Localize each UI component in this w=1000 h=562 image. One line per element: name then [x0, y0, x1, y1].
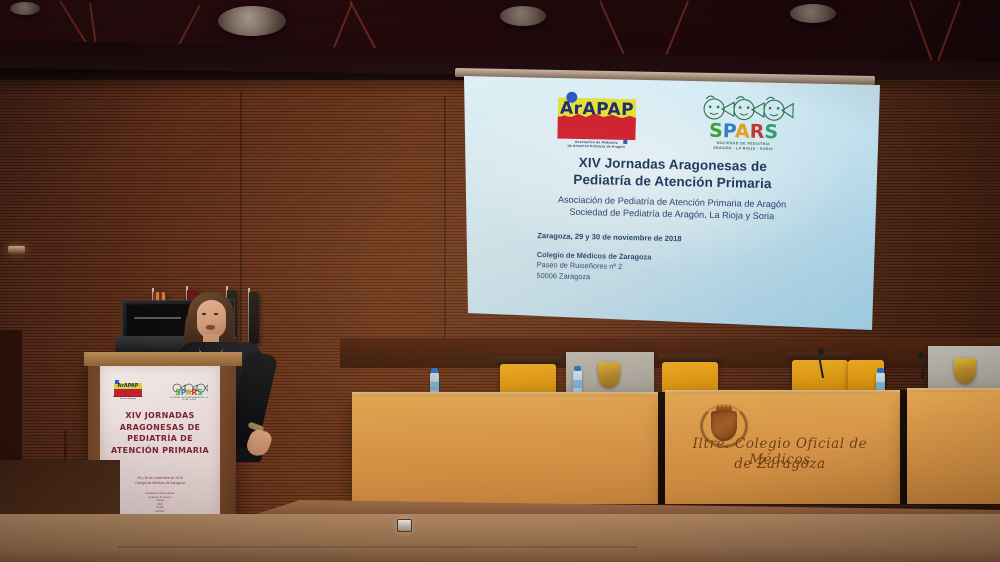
photo-vignette [0, 0, 1000, 562]
auditorium-photo: ArAPAP Asociación de Pediatría de Atenci… [0, 0, 1000, 562]
